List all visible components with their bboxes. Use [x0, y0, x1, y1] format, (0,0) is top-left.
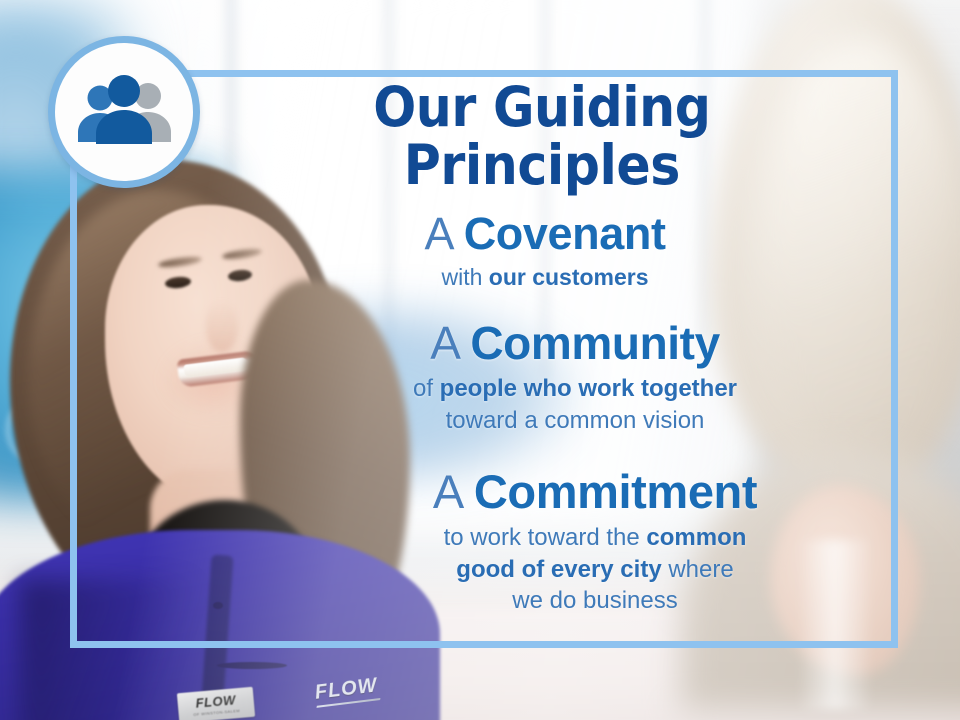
principle-article: A [430, 317, 458, 369]
principle-keyword: Commitment [474, 465, 757, 518]
principle-article: A [433, 465, 461, 518]
principle-description: of people who work together toward a com… [270, 373, 880, 436]
principle-line: with our customers [210, 262, 880, 292]
principle-line-part-bold: people who work together [440, 375, 737, 402]
principle-line: we do business [310, 585, 880, 617]
principle-line-part: where [662, 556, 734, 583]
principle-description: with our customers [210, 262, 880, 292]
principle-line-part-bold: our customers [489, 264, 649, 290]
principle-line: of people who work together [270, 373, 880, 405]
principle-line: good of every city where [310, 554, 880, 586]
principle-line-part: to work toward the [444, 524, 647, 551]
employee-name-badge: FLOW OF WINSTON-SALEM [177, 687, 255, 720]
polo-button [217, 662, 287, 669]
principle-line-part-bold: good of every city [456, 556, 661, 583]
principles-content: Our Guiding Principles A Covenant with o… [200, 78, 880, 617]
people-group-icon [72, 73, 176, 151]
name-badge-logo: FLOW [195, 693, 236, 709]
principle-block-commitment: A Commitment to work toward the common g… [200, 466, 880, 617]
principle-line: to work toward the common [310, 522, 880, 554]
principle-heading: A Community [270, 318, 880, 369]
principle-description: to work toward the common good of every … [310, 522, 880, 617]
poster-canvas: FLOW OF WINSTON-SALEM FLOW [0, 0, 960, 720]
principle-line-part: toward a common vision [446, 407, 705, 434]
people-badge [48, 36, 200, 188]
polo-shadow [20, 580, 200, 720]
principle-block-covenant: A Covenant with our customers [200, 209, 880, 293]
principle-line-part: with [441, 264, 488, 290]
principle-block-community: A Community of people who work together … [200, 318, 880, 436]
principle-keyword: Covenant [464, 208, 666, 259]
principle-line: toward a common vision [270, 405, 880, 437]
principle-line-part: we do business [512, 587, 677, 614]
principle-heading: A Commitment [310, 466, 880, 518]
principle-article: A [424, 208, 451, 259]
principle-keyword: Community [470, 317, 719, 369]
page-title: Our Guiding Principles [227, 78, 853, 195]
principle-heading: A Covenant [210, 209, 880, 259]
principle-line-part: of [413, 375, 440, 402]
principle-line-part-bold: common [646, 524, 746, 551]
